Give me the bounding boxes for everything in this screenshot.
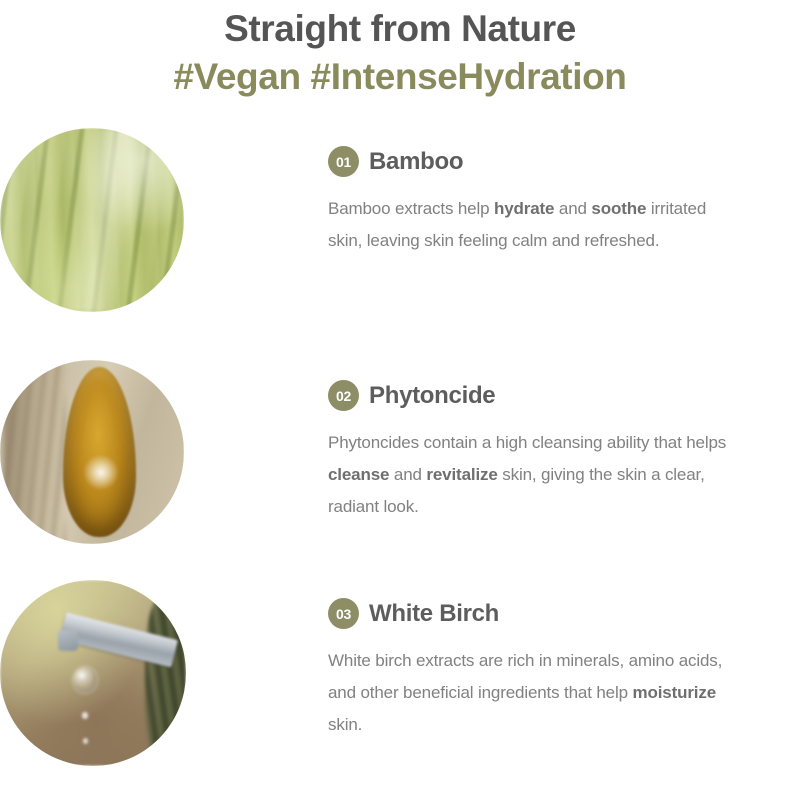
ingredient-title: Phytoncide: [369, 382, 495, 410]
page-subtitle-hashtags: #Vegan #IntenseHydration: [0, 52, 800, 102]
ingredient-item-white-birch: 03 White Birch White birch extracts are …: [0, 570, 800, 770]
ingredient-title: White Birch: [369, 600, 499, 628]
ingredient-description: Phytoncides contain a high cleansing abi…: [328, 427, 734, 523]
water-droplet-small-icon: [82, 712, 89, 719]
page-title: Straight from Nature: [0, 6, 800, 52]
ingredient-title: Bamboo: [369, 148, 463, 176]
water-droplet-icon: [73, 667, 97, 693]
birch-sap-tap-droplet-photo: [0, 580, 186, 766]
ingredient-description: White birch extracts are rich in mineral…: [328, 645, 734, 741]
white-birch-title-line: 03 White Birch: [328, 598, 800, 629]
phytoncide-image-thumbnail: [0, 360, 184, 544]
ingredient-item-bamboo: 01 Bamboo Bamboo extracts help hydrate a…: [0, 128, 800, 348]
spout-tip-icon: [58, 630, 78, 650]
bamboo-text-block: 01 Bamboo Bamboo extracts help hydrate a…: [112, 128, 800, 257]
phytoncide-title-line: 02 Phytoncide: [328, 380, 800, 411]
step-number-badge: 03: [328, 598, 359, 629]
ingredient-infographic-page: Straight from Nature #Vegan #IntenseHydr…: [0, 0, 800, 800]
ingredient-list: 01 Bamboo Bamboo extracts help hydrate a…: [0, 128, 800, 770]
amber-resin-droplet-photo: [0, 360, 184, 544]
phytoncide-text-block: 02 Phytoncide Phytoncides contain a high…: [112, 348, 800, 523]
white-birch-image-thumbnail: [0, 580, 186, 766]
water-droplet-tiny-icon: [83, 738, 89, 744]
ingredient-description: Bamboo extracts help hydrate and soothe …: [328, 193, 734, 257]
step-number-badge: 01: [328, 146, 359, 177]
bamboo-title-line: 01 Bamboo: [328, 146, 800, 177]
bamboo-stalks-photo: [0, 128, 184, 312]
step-number-badge: 02: [328, 380, 359, 411]
ingredient-item-phytoncide: 02 Phytoncide Phytoncides contain a high…: [0, 348, 800, 570]
page-header: Straight from Nature #Vegan #IntenseHydr…: [0, 0, 800, 102]
bamboo-image-thumbnail: [0, 128, 184, 312]
white-birch-text-block: 03 White Birch White birch extracts are …: [112, 570, 800, 741]
